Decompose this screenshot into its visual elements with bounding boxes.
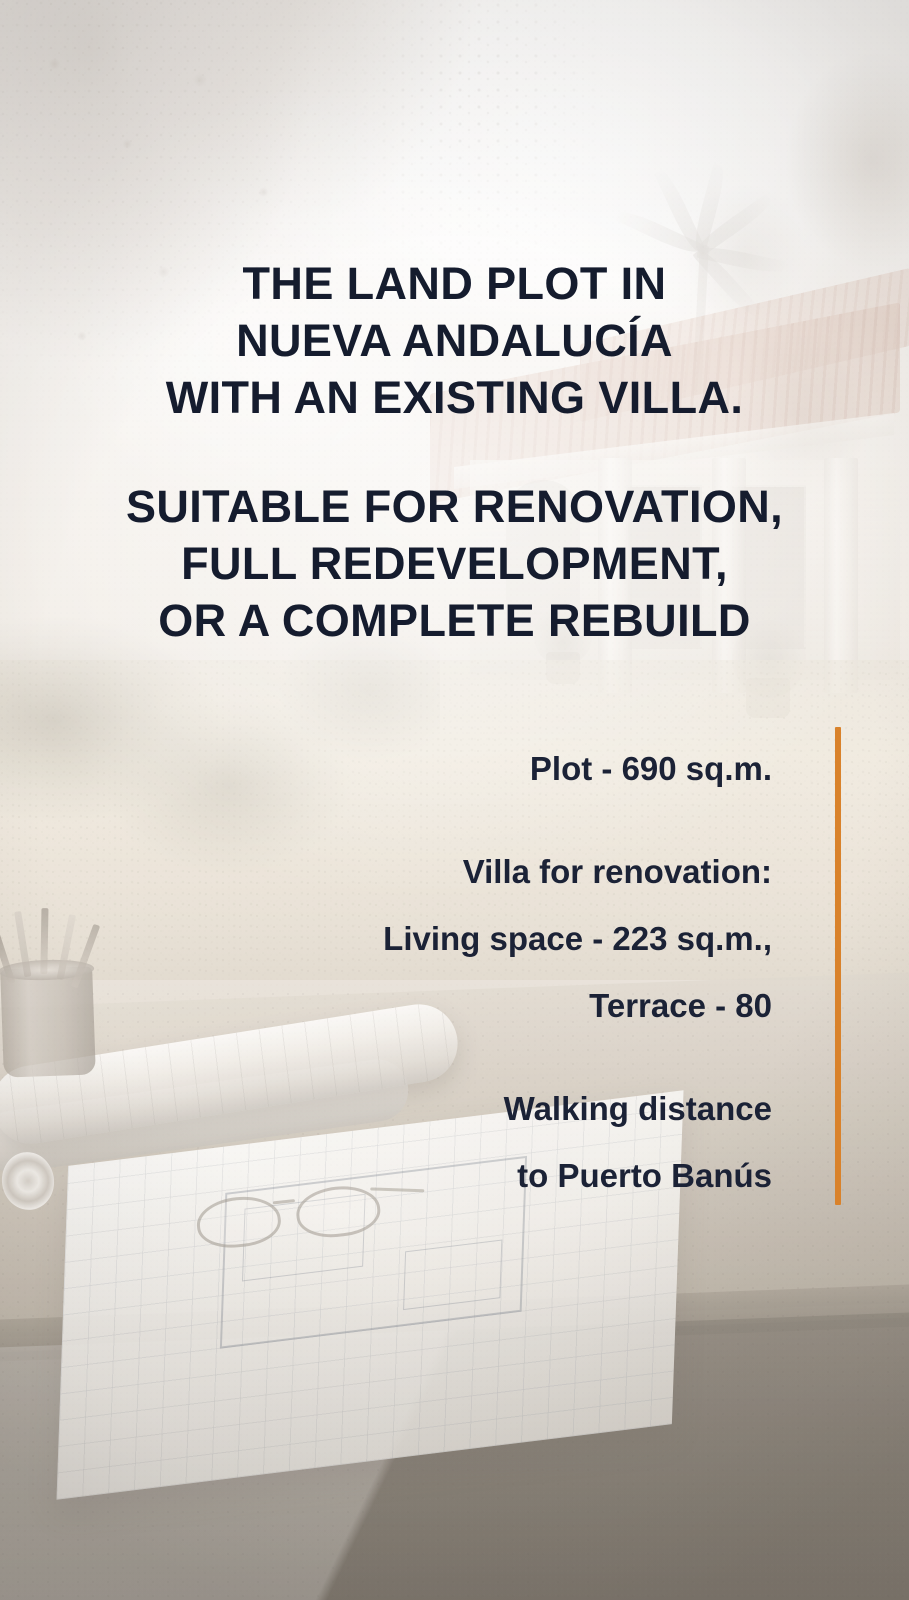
headline-line: SUITABLE FOR RENOVATION, — [0, 478, 909, 535]
detail-line-terrace: Terrace - 80 — [0, 972, 772, 1039]
detail-line-villa-heading: Villa for renovation: — [0, 838, 772, 905]
detail-line-puerto-banus: to Puerto Banús — [0, 1142, 772, 1209]
poster-content: THE LAND PLOT IN NUEVA ANDALUCÍA WITH AN… — [0, 0, 909, 1600]
headline-primary: THE LAND PLOT IN NUEVA ANDALUCÍA WITH AN… — [0, 255, 909, 426]
property-details: Plot - 690 sq.m. Villa for renovation: L… — [0, 735, 790, 1209]
headline-line: WITH AN EXISTING VILLA. — [0, 369, 909, 426]
headline-line: NUEVA ANDALUCÍA — [0, 312, 909, 369]
detail-group-location: Walking distance to Puerto Banús — [0, 1075, 772, 1209]
headline-line: THE LAND PLOT IN — [0, 255, 909, 312]
headline-line: FULL REDEVELOPMENT, — [0, 535, 909, 592]
detail-line-living-space: Living space - 223 sq.m., — [0, 905, 772, 972]
detail-line-plot-size: Plot - 690 sq.m. — [0, 735, 772, 802]
headline-secondary: SUITABLE FOR RENOVATION, FULL REDEVELOPM… — [0, 478, 909, 649]
orange-vertical-accent-bar — [835, 727, 841, 1205]
property-listing-poster: THE LAND PLOT IN NUEVA ANDALUCÍA WITH AN… — [0, 0, 909, 1600]
detail-line-walking-distance: Walking distance — [0, 1075, 772, 1142]
detail-group-plot: Plot - 690 sq.m. — [0, 735, 772, 802]
detail-group-villa: Villa for renovation: Living space - 223… — [0, 838, 772, 1039]
headline-line: OR A COMPLETE REBUILD — [0, 592, 909, 649]
